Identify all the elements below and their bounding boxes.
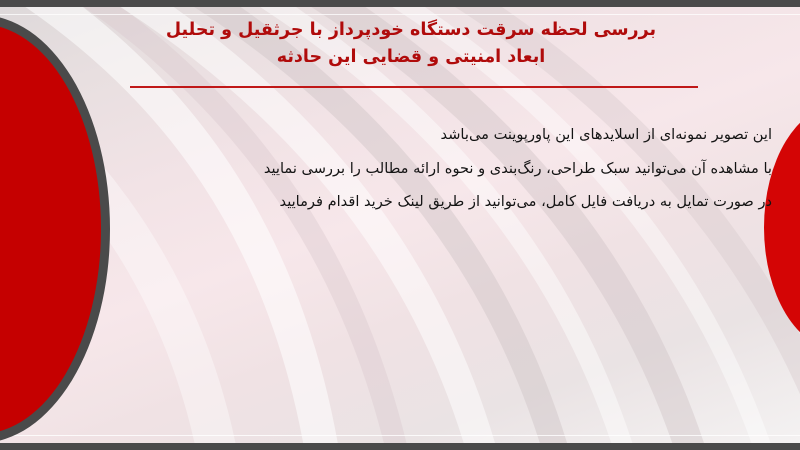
slide-title-block: بررسی لحظه سرقت دستگاه خودپرداز با جرثقی… [118, 17, 704, 70]
decorative-red-lens-left [0, 15, 110, 443]
body-line-3: در صورت تمایل به دریافت فایل کامل، می‌تو… [72, 192, 772, 212]
title-underline-rule [130, 86, 698, 88]
background-arc-bands [0, 7, 800, 443]
body-line-2: با مشاهده آن می‌توانید سبک طراحی، رنگ‌بن… [72, 159, 772, 179]
page-title-line-2: ابعاد امنیتی و قضایی این حادثه [118, 44, 704, 71]
frame-strip-bottom [0, 443, 800, 450]
page-title-line-1: بررسی لحظه سرقت دستگاه خودپرداز با جرثقی… [118, 17, 704, 44]
presentation-slide: بررسی لحظه سرقت دستگاه خودپرداز با جرثقی… [0, 0, 800, 450]
body-line-1: این تصویر نمونه‌ای از اسلایدهای این پاور… [72, 125, 772, 145]
bottom-hairline [0, 435, 800, 436]
slide-canvas: بررسی لحظه سرقت دستگاه خودپرداز با جرثقی… [0, 7, 800, 443]
frame-strip-top [0, 0, 800, 7]
top-hairline [0, 14, 800, 15]
slide-body-block: این تصویر نمونه‌ای از اسلایدهای این پاور… [72, 125, 772, 212]
